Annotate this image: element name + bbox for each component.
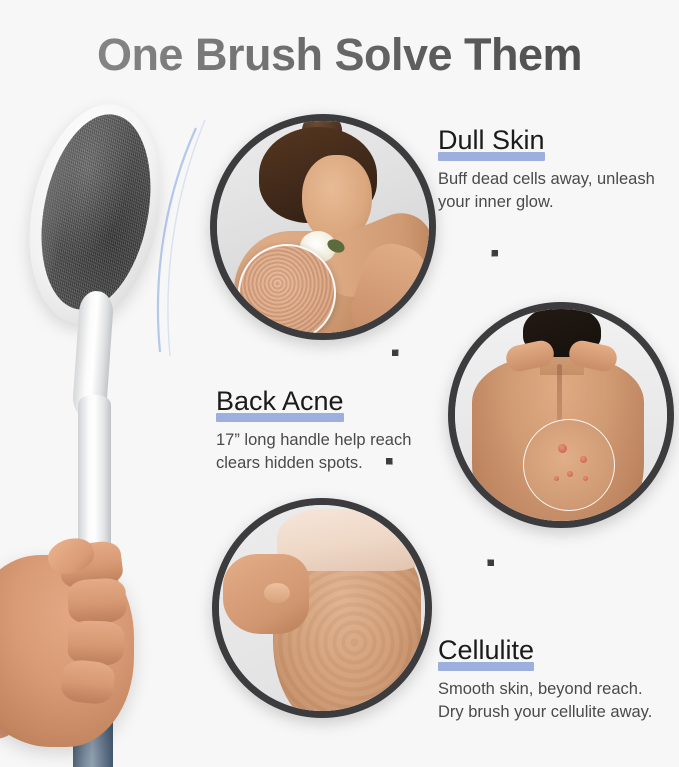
photo-woman-flower (217, 121, 429, 333)
feature-back-acne: Back Acne 17” long handle help reach cle… (216, 385, 446, 475)
feature-body-dull-skin: Buff dead cells away, unleash your inner… (438, 168, 676, 214)
acne-zoom-inset (523, 419, 615, 511)
acne-spot (554, 476, 559, 481)
feature-heading-text: Back Acne (216, 386, 344, 416)
brush-bristles (26, 105, 166, 319)
hand-holding-brush (0, 535, 154, 767)
acne-spot (567, 471, 573, 477)
feature-heading-dull-skin: Dull Skin (438, 124, 545, 161)
photo-mans-back (455, 309, 667, 521)
photo-bubble-dull-skin (210, 114, 436, 340)
photo-bubble-back-acne (448, 302, 674, 528)
acne-spot (580, 456, 587, 463)
acne-spot (583, 476, 588, 481)
feature-body-back-acne: 17” long handle help reach clears hidden… (216, 429, 446, 475)
feature-heading-cellulite: Cellulite (438, 634, 534, 671)
feature-heading-text: Dull Skin (438, 125, 545, 155)
skin-texture-zoom-inset (238, 244, 336, 340)
photo-thigh-cellulite (219, 505, 425, 711)
feature-body-cellulite: Smooth skin, beyond reach. Dry brush you… (438, 678, 678, 724)
page-title: One Brush Solve Them (0, 26, 679, 84)
product-infographic: One Brush Solve Them (0, 0, 679, 767)
finger (67, 620, 125, 666)
feature-cellulite: Cellulite Smooth skin, beyond reach. Dry… (438, 634, 678, 724)
acne-spot (558, 444, 567, 453)
photo-bubble-cellulite (212, 498, 432, 718)
finger (67, 578, 127, 625)
feature-heading-text: Cellulite (438, 635, 534, 665)
feature-dull-skin: Dull Skin Buff dead cells away, unleash … (438, 124, 676, 214)
finger (60, 658, 116, 705)
feature-heading-back-acne: Back Acne (216, 385, 344, 422)
